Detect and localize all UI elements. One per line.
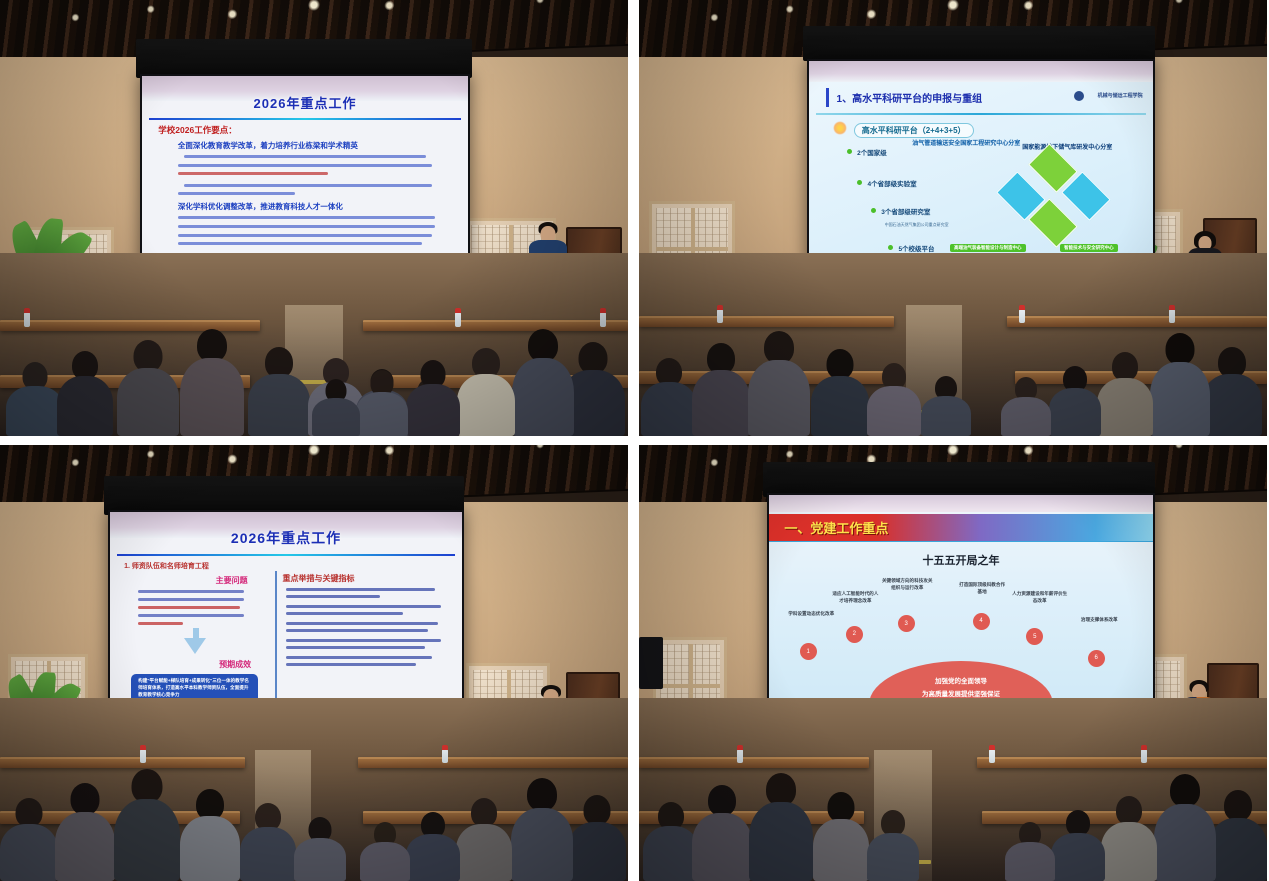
audience-member bbox=[248, 340, 310, 436]
bullet-4: 5个校级平台 bbox=[898, 243, 934, 253]
diamond-diagram bbox=[995, 153, 1112, 241]
step-6: 6 bbox=[1088, 650, 1105, 667]
col-left-header: 主要问题 bbox=[216, 575, 248, 586]
right-items bbox=[286, 588, 448, 666]
audience-member bbox=[58, 344, 112, 436]
screen-housing bbox=[136, 39, 472, 78]
slide-heading-1: 全面深化教育教学改革，着力培养行业栋梁和学术精英 bbox=[178, 140, 358, 151]
step-1: 1 bbox=[800, 643, 817, 660]
water-bottle bbox=[717, 309, 723, 323]
step-number: 2 bbox=[846, 626, 863, 643]
step-number: 1 bbox=[800, 643, 817, 660]
projection-screen: 一、党建工作重点 十五五开局之年 1 学科设置动态优化改革 2 适应人工智能时代… bbox=[767, 493, 1155, 715]
step-number: 4 bbox=[973, 613, 990, 630]
audience-member bbox=[1209, 783, 1267, 881]
audience-member bbox=[456, 793, 512, 881]
audience-member bbox=[693, 336, 749, 436]
footer-tag-2: 智能技术与安全研究中心 bbox=[1060, 244, 1118, 252]
step-number: 3 bbox=[898, 615, 915, 632]
step-1-label: 学科设置动态优化改革 bbox=[786, 611, 836, 618]
water-bottle bbox=[24, 312, 30, 327]
arc-text-1: 加强党的全面领导 bbox=[769, 675, 1153, 685]
audience-member bbox=[643, 797, 699, 881]
step-3-label: 关键领域方向的科技攻关组织与运行改革 bbox=[880, 578, 934, 592]
audience-member bbox=[116, 757, 178, 881]
audience-member bbox=[1097, 346, 1153, 436]
step-2-label: 适应人工智能时代的人才培养理念改革 bbox=[830, 591, 880, 605]
bullet-1: 2个国家级 bbox=[857, 147, 887, 157]
step-4-label: 打造国际顶级科教合作基地 bbox=[957, 582, 1007, 596]
audience-member bbox=[180, 781, 240, 881]
water-bottle bbox=[737, 749, 743, 763]
audience-member bbox=[312, 378, 360, 436]
audience-member bbox=[360, 821, 410, 881]
slide-title: 一、党建工作重点 bbox=[784, 518, 888, 537]
audience-member bbox=[356, 368, 408, 436]
step-number: 5 bbox=[1026, 628, 1043, 645]
audience-member bbox=[182, 318, 242, 436]
audience-desk bbox=[363, 320, 628, 331]
water-bottle bbox=[442, 749, 448, 763]
slide-title: 1、高水平科研平台的申报与重组 bbox=[837, 90, 983, 105]
photo-bottom-right: 一、党建工作重点 十五五开局之年 1 学科设置动态优化改革 2 适应人工智能时代… bbox=[639, 445, 1267, 881]
slide-subtitle: 高水平科研平台（2+4+3+5） bbox=[854, 123, 974, 138]
audience-member bbox=[1203, 340, 1261, 436]
audience-member bbox=[294, 815, 346, 881]
audience-member bbox=[1005, 821, 1055, 881]
audience-member bbox=[921, 374, 971, 436]
step-number: 6 bbox=[1088, 650, 1105, 667]
slide-bullet: 1. 师资队伍和名师培育工程 bbox=[124, 561, 209, 571]
audience-member bbox=[751, 761, 811, 881]
audience-member bbox=[240, 799, 296, 881]
outcome-text: 构建"平台赋能+梯队培育+成果转化"三位一体的教学名师培育体系，打造高水平本科教… bbox=[138, 678, 251, 699]
water-bottle bbox=[989, 749, 995, 763]
water-bottle bbox=[1169, 309, 1175, 323]
audience-member bbox=[641, 354, 697, 436]
water-bottle bbox=[455, 312, 461, 327]
screen-housing bbox=[803, 26, 1155, 61]
callout-2: 国家能源地下储气库研发中心分室 bbox=[1022, 142, 1112, 151]
audience-member bbox=[514, 318, 572, 436]
left-text-block bbox=[138, 590, 244, 625]
arc-text-2: 为高质量发展提供坚强保证 bbox=[769, 688, 1153, 698]
bullet-3: 3个省部级研究室 bbox=[881, 206, 930, 216]
step-2: 2 bbox=[846, 626, 863, 643]
photo-bottom-left: 2026年重点工作 1. 师资队伍和名师培育工程 主要问题 预期成效 构建"平台… bbox=[0, 445, 628, 881]
audience-member bbox=[1051, 807, 1105, 881]
step-3: 3 bbox=[898, 615, 915, 632]
slide-subtitle: 十五五开局之年 bbox=[769, 552, 1153, 568]
audience-desk bbox=[977, 757, 1267, 768]
audience-desk bbox=[1007, 316, 1267, 327]
photo-collage: 2026年重点工作 学校2026工作要点： 全面深化教育教学改革，着力培养行业栋… bbox=[0, 0, 1269, 881]
audience-member bbox=[6, 358, 64, 436]
audience-member bbox=[813, 785, 869, 881]
screen-housing bbox=[104, 476, 464, 515]
step-5-label: 人力资源建设和年薪评价生态改革 bbox=[1011, 591, 1069, 605]
audience-member bbox=[867, 807, 919, 881]
water-bottle bbox=[600, 312, 606, 327]
audience-member bbox=[56, 775, 114, 881]
audience-member bbox=[1101, 789, 1157, 881]
slide-heading-2: 深化学科优化调整改革，推进教育科技人才一体化 bbox=[178, 201, 343, 212]
outcome-header: 预期成效 bbox=[219, 659, 251, 670]
audience-member bbox=[1155, 763, 1215, 881]
audience-member bbox=[811, 342, 869, 436]
photo-top-left: 2026年重点工作 学校2026工作要点： 全面深化教育教学改革，着力培养行业栋… bbox=[0, 0, 628, 436]
audience-member bbox=[458, 340, 514, 436]
audience-desk bbox=[358, 757, 628, 768]
audience-member bbox=[118, 332, 178, 436]
col-right-header: 重点举措与关键指标 bbox=[282, 573, 354, 584]
projection-screen: 2026年重点工作 学校2026工作要点： 全面深化教育教学改革，着力培养行业栋… bbox=[140, 74, 470, 270]
step-4: 4 bbox=[973, 613, 990, 630]
audience-member bbox=[568, 789, 626, 881]
slide-bullet: 学校2026工作要点： bbox=[158, 124, 236, 136]
step-6-label: 治理支撑体系改革 bbox=[1076, 617, 1122, 624]
photo-top-right: 1、高水平科研平台的申报与重组 机械与储运工程学院 高水平科研平台（2+4+3+… bbox=[639, 0, 1267, 436]
audience-member bbox=[1151, 322, 1209, 436]
water-bottle bbox=[1019, 309, 1025, 323]
projection-screen: 2026年重点工作 1. 师资队伍和名师培育工程 主要问题 预期成效 构建"平台… bbox=[108, 510, 464, 724]
audience-member bbox=[406, 809, 460, 881]
water-bottle bbox=[1141, 749, 1147, 763]
audience-member bbox=[512, 769, 572, 881]
audience-member bbox=[867, 360, 921, 436]
audience-member bbox=[749, 320, 809, 436]
bullet-note: 中国石油天然气集团公司重点研究室 bbox=[885, 222, 949, 228]
audience-member bbox=[1001, 376, 1051, 436]
bullet-2: 4个省部级实验室 bbox=[867, 178, 916, 188]
audience-member bbox=[0, 793, 58, 881]
audience-member bbox=[406, 356, 460, 436]
step-5: 5 bbox=[1026, 628, 1043, 645]
org-badge: 机械与储运工程学院 bbox=[1098, 92, 1143, 99]
slide-title: 2026年重点工作 bbox=[110, 528, 462, 548]
callout-1: 油气管道输送安全国家工程研究中心分室 bbox=[912, 141, 1020, 149]
slide-title: 2026年重点工作 bbox=[142, 93, 468, 112]
footer-tag-1: 高端油气装备智能设计与制造中心 bbox=[950, 244, 1026, 252]
audience-member bbox=[1049, 362, 1101, 436]
projection-screen: 1、高水平科研平台的申报与重组 机械与储运工程学院 高水平科研平台（2+4+3+… bbox=[807, 59, 1155, 273]
audience-member bbox=[693, 777, 751, 881]
wall-speaker bbox=[639, 637, 663, 689]
